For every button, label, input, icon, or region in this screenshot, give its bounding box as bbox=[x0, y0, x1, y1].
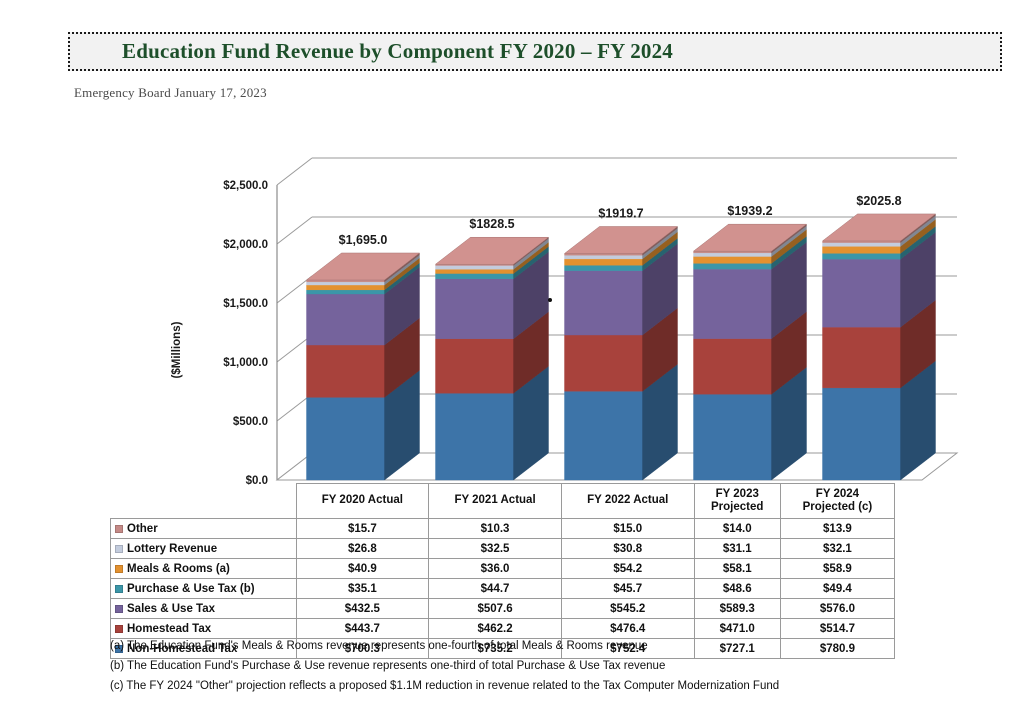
subtitle: Emergency Board January 17, 2023 bbox=[74, 85, 267, 101]
table-cell-r0-c3: $14.0 bbox=[694, 519, 780, 539]
bar-segment-front-2-6 bbox=[565, 253, 643, 255]
legend-series-name: Sales & Use Tax bbox=[127, 603, 215, 615]
table-cell-r1-c0: $26.8 bbox=[296, 539, 429, 559]
bar-total-label-4: $2025.8 bbox=[856, 194, 901, 208]
bar-total-label-0: $1,695.0 bbox=[339, 233, 388, 247]
bar-segment-front-1-4 bbox=[436, 269, 514, 273]
table-cell-r4-c0: $432.5 bbox=[296, 599, 429, 619]
legend-swatch-icon bbox=[115, 625, 123, 633]
bar-segment-front-0-4 bbox=[307, 285, 385, 290]
legend-label-4: Sales & Use Tax bbox=[111, 599, 297, 619]
bar-segment-front-1-5 bbox=[436, 265, 514, 269]
table-cell-r2-c2: $54.2 bbox=[561, 559, 694, 579]
bar-total-label-1: $1828.5 bbox=[469, 217, 514, 231]
table-col-header-3: FY 2023Projected bbox=[694, 484, 780, 519]
table-cell-r3-c1: $44.7 bbox=[429, 579, 562, 599]
bar-group-2 bbox=[565, 226, 678, 480]
footnote-2: (c) The FY 2024 "Other" projection refle… bbox=[110, 676, 990, 696]
table-row: Meals & Rooms (a)$40.9$36.0$54.2$58.1$58… bbox=[111, 559, 895, 579]
table-col-header-0: FY 2020 Actual bbox=[296, 484, 429, 519]
bar-segment-front-3-3 bbox=[694, 263, 772, 269]
legend-label-1: Lottery Revenue bbox=[111, 539, 297, 559]
table-cell-r2-c3: $58.1 bbox=[694, 559, 780, 579]
legend-swatch-icon bbox=[115, 545, 123, 553]
legend-swatch-icon bbox=[115, 585, 123, 593]
table-corner-cell bbox=[111, 484, 297, 519]
table-cell-r1-c3: $31.1 bbox=[694, 539, 780, 559]
table-cell-r3-c3: $48.6 bbox=[694, 579, 780, 599]
table-row: Lottery Revenue$26.8$32.5$30.8$31.1$32.1 bbox=[111, 539, 895, 559]
bar-segment-front-0-1 bbox=[307, 345, 385, 397]
table-cell-r2-c1: $36.0 bbox=[429, 559, 562, 579]
bar-segment-front-1-2 bbox=[436, 279, 514, 339]
table-cell-r1-c1: $32.5 bbox=[429, 539, 562, 559]
y-tick-label-2: $1,000.0 bbox=[223, 357, 268, 369]
table-header-row: FY 2020 ActualFY 2021 ActualFY 2022 Actu… bbox=[111, 484, 895, 519]
legend-label-0: Other bbox=[111, 519, 297, 539]
table-cell-r1-c4: $32.1 bbox=[780, 539, 894, 559]
table-cell-r0-c2: $15.0 bbox=[561, 519, 694, 539]
legend-series-name: Homestead Tax bbox=[127, 623, 211, 635]
bar-segment-front-2-3 bbox=[565, 265, 643, 270]
footnote-1: (b) The Education Fund's Purchase & Use … bbox=[110, 656, 990, 676]
bar-segment-front-4-4 bbox=[823, 246, 901, 253]
bar-segment-front-4-1 bbox=[823, 327, 901, 388]
table-row: Other$15.7$10.3$15.0$14.0$13.9 bbox=[111, 519, 895, 539]
table-cell-r3-c0: $35.1 bbox=[296, 579, 429, 599]
legend-label-3: Purchase & Use Tax (b) bbox=[111, 579, 297, 599]
table-col-header-4: FY 2024Projected (c) bbox=[780, 484, 894, 519]
bar-segment-front-3-2 bbox=[694, 269, 772, 339]
bar-group-0 bbox=[307, 253, 420, 480]
bar-segment-front-2-4 bbox=[565, 259, 643, 265]
stacked-column-chart: $0.0$500.0$1,000.0$1,500.0$2,000.0$2,500… bbox=[120, 150, 980, 500]
bar-segment-front-1-3 bbox=[436, 274, 514, 279]
bar-total-label-3: $1939.2 bbox=[727, 204, 772, 218]
bar-segment-front-3-5 bbox=[694, 253, 772, 257]
table-cell-r4-c2: $545.2 bbox=[561, 599, 694, 619]
legend-series-name: Purchase & Use Tax (b) bbox=[127, 583, 255, 595]
legend-swatch-icon bbox=[115, 605, 123, 613]
bar-segment-front-4-5 bbox=[823, 243, 901, 247]
footnotes: (a) The Education Fund's Meals & Rooms r… bbox=[110, 636, 990, 696]
table-cell-r2-c4: $58.9 bbox=[780, 559, 894, 579]
table-cell-r4-c1: $507.6 bbox=[429, 599, 562, 619]
col-header-line1: FY 2024 bbox=[781, 488, 894, 501]
gridline-riser-5 bbox=[277, 158, 312, 185]
bar-segment-front-0-5 bbox=[307, 282, 385, 285]
bar-segment-front-0-6 bbox=[307, 280, 385, 282]
col-header-line1: FY 2023 bbox=[695, 488, 780, 501]
bar-segment-front-3-4 bbox=[694, 256, 772, 263]
chart-canvas: $0.0$500.0$1,000.0$1,500.0$2,000.0$2,500… bbox=[120, 150, 980, 500]
bar-segment-front-1-1 bbox=[436, 339, 514, 394]
page-title: Education Fund Revenue by Component FY 2… bbox=[70, 39, 673, 64]
footnote-0: (a) The Education Fund's Meals & Rooms r… bbox=[110, 636, 990, 656]
table-header: FY 2020 ActualFY 2021 ActualFY 2022 Actu… bbox=[111, 484, 895, 519]
bar-segment-front-0-3 bbox=[307, 290, 385, 294]
legend-series-name: Other bbox=[127, 523, 158, 535]
table-cell-r0-c0: $15.7 bbox=[296, 519, 429, 539]
table-row: Purchase & Use Tax (b)$35.1$44.7$45.7$48… bbox=[111, 579, 895, 599]
bar-group-1 bbox=[436, 237, 549, 480]
stray-dot-artifact bbox=[548, 298, 552, 302]
bar-segment-front-2-5 bbox=[565, 255, 643, 259]
table-cell-r2-c0: $40.9 bbox=[296, 559, 429, 579]
table-cell-r0-c1: $10.3 bbox=[429, 519, 562, 539]
bar-segment-front-0-2 bbox=[307, 294, 385, 345]
legend-series-name: Meals & Rooms (a) bbox=[127, 563, 230, 575]
col-header-line1: FY 2020 Actual bbox=[297, 494, 429, 507]
revenue-data-table: FY 2020 ActualFY 2021 ActualFY 2022 Actu… bbox=[110, 483, 895, 659]
y-tick-label-5: $2,500.0 bbox=[223, 180, 268, 192]
bar-segment-front-4-0 bbox=[823, 388, 901, 480]
col-header-line1: FY 2021 Actual bbox=[429, 494, 561, 507]
col-header-line2: Projected bbox=[695, 501, 780, 514]
legend-series-name: Lottery Revenue bbox=[127, 543, 217, 555]
table-cell-r4-c4: $576.0 bbox=[780, 599, 894, 619]
bar-segment-front-3-1 bbox=[694, 339, 772, 395]
bar-group-3 bbox=[694, 224, 807, 480]
y-tick-label-3: $1,500.0 bbox=[223, 298, 268, 310]
table-row: Sales & Use Tax$432.5$507.6$545.2$589.3$… bbox=[111, 599, 895, 619]
bar-segment-front-2-0 bbox=[565, 391, 643, 480]
title-banner: Education Fund Revenue by Component FY 2… bbox=[68, 32, 1002, 71]
table-cell-r3-c2: $45.7 bbox=[561, 579, 694, 599]
y-axis: $0.0$500.0$1,000.0$1,500.0$2,000.0$2,500… bbox=[171, 180, 268, 487]
table-cell-r0-c4: $13.9 bbox=[780, 519, 894, 539]
legend-swatch-icon bbox=[115, 565, 123, 573]
table-cell-r3-c4: $49.4 bbox=[780, 579, 894, 599]
y-tick-label-4: $2,000.0 bbox=[223, 239, 268, 251]
bar-segment-front-3-0 bbox=[694, 394, 772, 480]
table-col-header-2: FY 2022 Actual bbox=[561, 484, 694, 519]
bar-total-label-2: $1919.7 bbox=[598, 206, 643, 220]
bar-segment-front-2-2 bbox=[565, 271, 643, 335]
bar-segment-front-0-0 bbox=[307, 397, 385, 480]
bar-segment-front-4-2 bbox=[823, 259, 901, 327]
bar-segment-front-1-0 bbox=[436, 393, 514, 480]
table-cell-r4-c3: $589.3 bbox=[694, 599, 780, 619]
y-tick-label-1: $500.0 bbox=[233, 416, 268, 428]
col-header-line2: Projected (c) bbox=[781, 501, 894, 514]
legend-label-2: Meals & Rooms (a) bbox=[111, 559, 297, 579]
legend-swatch-icon bbox=[115, 525, 123, 533]
bar-segment-front-2-1 bbox=[565, 335, 643, 391]
col-header-line1: FY 2022 Actual bbox=[562, 494, 694, 507]
gridline-riser-4 bbox=[277, 217, 312, 244]
table-col-header-1: FY 2021 Actual bbox=[429, 484, 562, 519]
bar-group-4 bbox=[823, 214, 936, 480]
y-axis-title: ($Millions) bbox=[171, 321, 183, 378]
table-cell-r1-c2: $30.8 bbox=[561, 539, 694, 559]
bar-segment-front-4-3 bbox=[823, 253, 901, 259]
